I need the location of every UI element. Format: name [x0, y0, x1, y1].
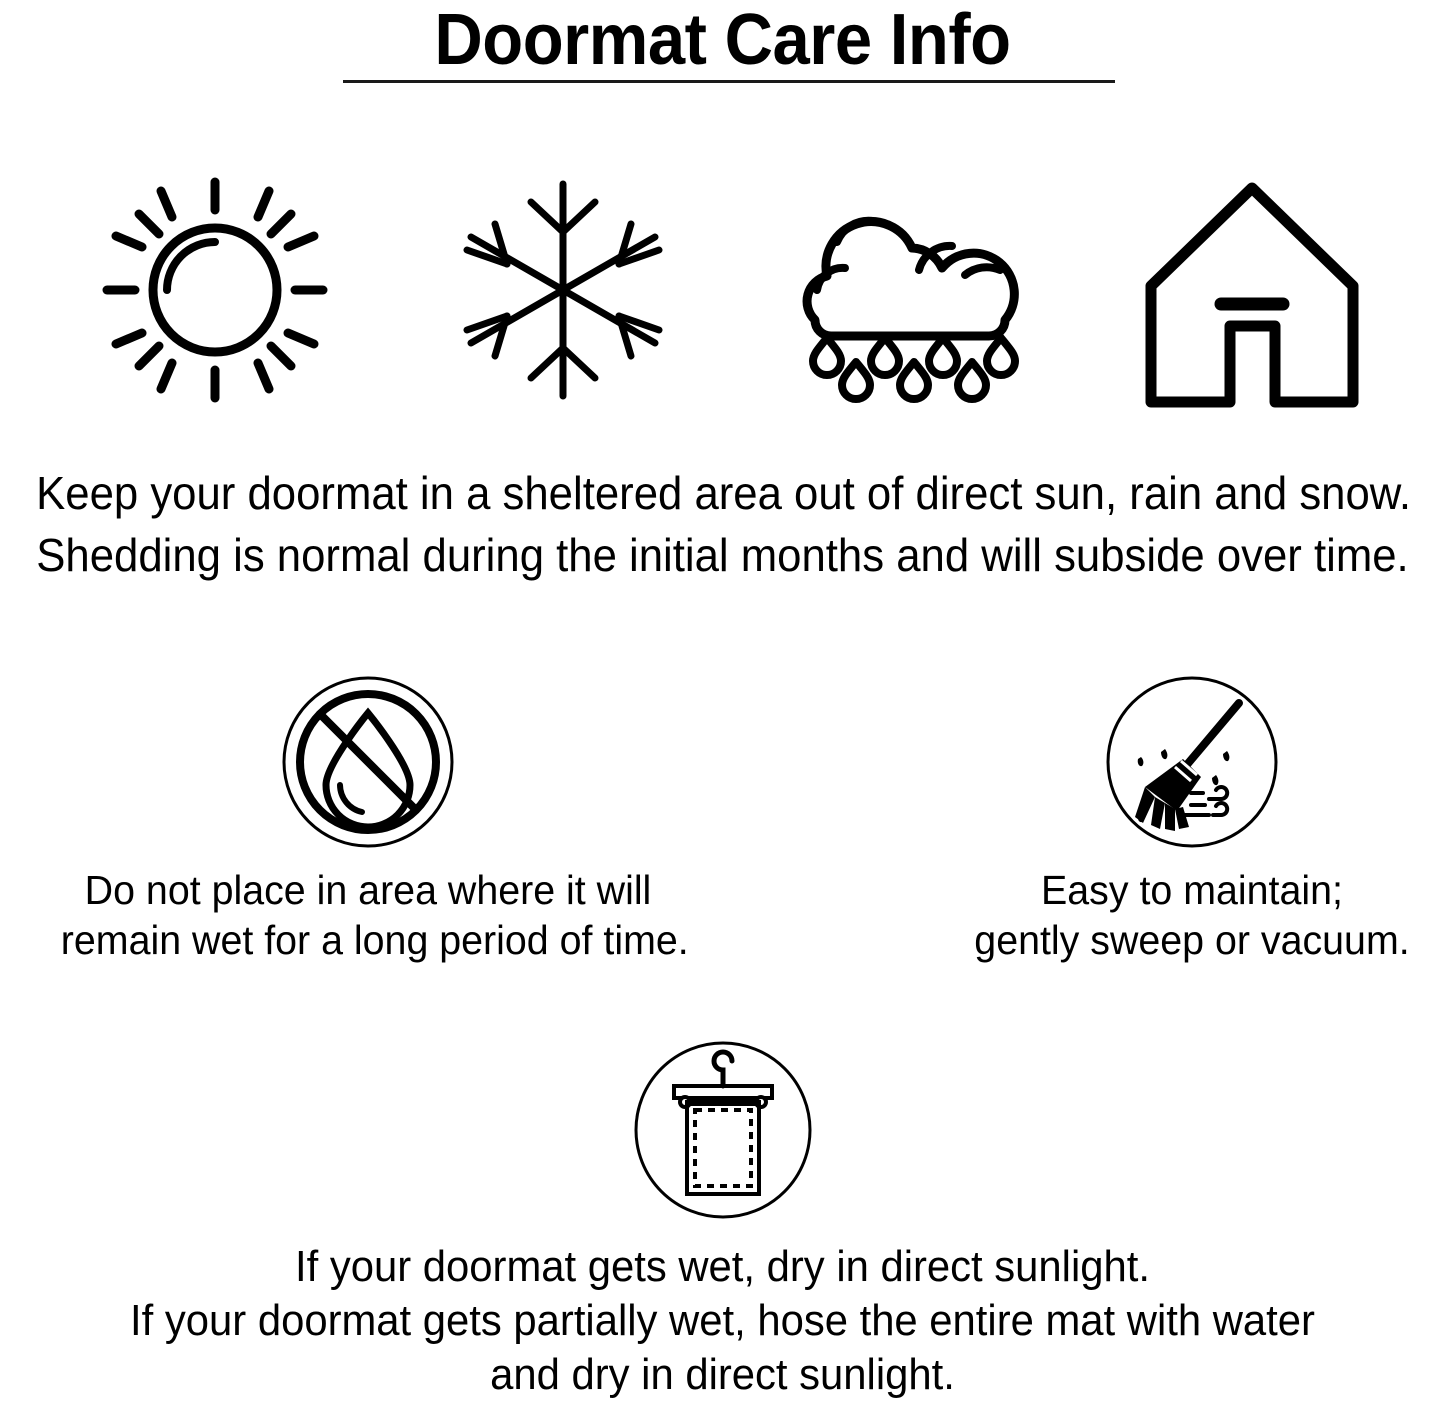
drying-line-1: If your doormat gets wet, dry in direct … [36, 1240, 1409, 1294]
easy-maintain-line-1: Easy to maintain; [885, 865, 1445, 915]
tip-easy-maintain: Easy to maintain; gently sweep or vacuum… [872, 675, 1445, 965]
no-water-caption: Do not place in area where it will remai… [61, 865, 675, 965]
hanging-mat-dry-icon [633, 1040, 813, 1220]
doormat-care-info-page: { "header": { "title": "Doormat Care Inf… [0, 0, 1445, 1393]
drying-line-3: and dry in direct sunlight. [36, 1348, 1409, 1402]
broom-sweep-icon [1105, 675, 1279, 849]
tip-no-standing-water: Do not place in area where it will remai… [48, 675, 688, 965]
drying-caption: If your doormat gets wet, dry in direct … [36, 1240, 1409, 1402]
intro-line-1: Keep your doormat in a sheltered area ou… [36, 462, 1409, 524]
easy-maintain-caption: Easy to maintain; gently sweep or vacuum… [885, 865, 1445, 965]
no-water-icon [281, 675, 455, 849]
house-icon [1135, 170, 1370, 410]
care-tips-row: Do not place in area where it will remai… [0, 675, 1445, 985]
page-header: Doormat Care Info [0, 0, 1445, 78]
intro-paragraph: Keep your doormat in a sheltered area ou… [36, 462, 1409, 586]
drying-instructions: If your doormat gets wet, dry in direct … [0, 1040, 1445, 1402]
drying-line-2: If your doormat gets partially wet, hose… [36, 1294, 1409, 1348]
title-divider [343, 80, 1115, 83]
intro-line-2: Shedding is normal during the initial mo… [36, 524, 1409, 586]
snowflake-icon [443, 170, 683, 410]
easy-maintain-line-2: gently sweep or vacuum. [885, 915, 1445, 965]
weather-icon-row [0, 170, 1445, 415]
page-title: Doormat Care Info [51, 0, 1395, 78]
no-water-line-2: remain wet for a long period of time. [61, 915, 675, 965]
rain-cloud-icon [785, 170, 1035, 410]
sun-icon [95, 170, 335, 410]
no-water-line-1: Do not place in area where it will [61, 865, 675, 915]
